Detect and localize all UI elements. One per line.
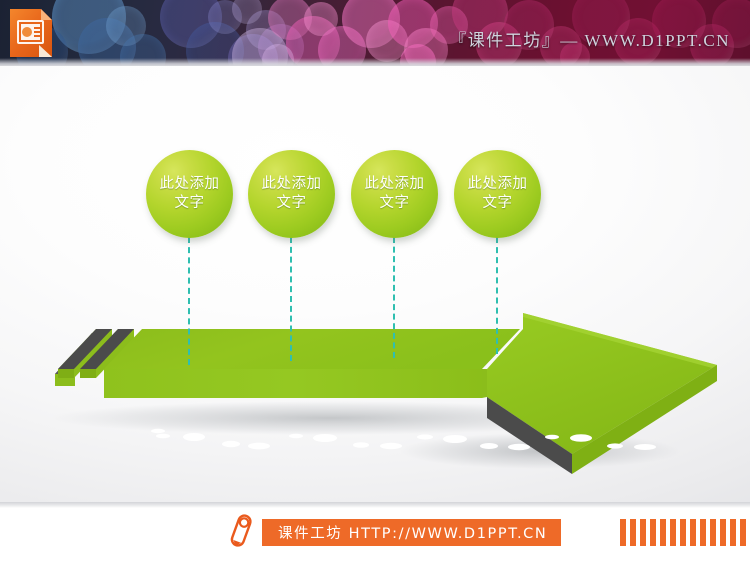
footer-bar-tick	[680, 519, 686, 546]
node-circle-4[interactable]: 此处添加 文字	[454, 150, 541, 238]
node-circle-1[interactable]: 此处添加 文字	[146, 150, 233, 238]
bokeh-circle	[366, 20, 408, 62]
footer-url-band[interactable]: 课件工坊 HTTP://WWW.D1PPT.CN	[262, 519, 561, 546]
footer-bar-tick	[700, 519, 706, 546]
banner-bottom-fade	[0, 58, 750, 66]
powerpoint-file-icon	[8, 7, 54, 59]
bokeh-circle	[208, 0, 242, 34]
footer-bar-tick	[740, 519, 746, 546]
footer-bar-tick	[690, 519, 696, 546]
footer-bar-tick	[660, 519, 666, 546]
top-banner: 『课件工坊』— WWW.D1PPT.CN	[0, 0, 750, 66]
arrow-shaft-top	[104, 329, 520, 369]
diagram-area: 此处添加 文字 此处添加 文字 此处添加 文字 此处添加 文字	[0, 66, 750, 502]
footer-bar-tick	[620, 519, 626, 546]
bokeh-circle	[160, 0, 222, 48]
arrow-shaft-front	[104, 369, 482, 398]
footer-url-text: 课件工坊 HTTP://WWW.D1PPT.CN	[278, 522, 547, 543]
bokeh-circle	[304, 2, 338, 36]
node-circle-3[interactable]: 此处添加 文字	[351, 150, 438, 238]
pen-icon	[228, 512, 254, 550]
connector-line-4	[496, 237, 498, 354]
footer-bar-tick	[640, 519, 646, 546]
arrow-shape[interactable]	[0, 66, 750, 502]
footer-bars-decoration	[620, 519, 746, 546]
bokeh-circle	[342, 0, 400, 48]
node-circle-2[interactable]: 此处添加 文字	[248, 150, 335, 238]
connector-line-3	[393, 237, 395, 358]
connector-line-2	[290, 237, 292, 361]
footer-bar-tick	[720, 519, 726, 546]
footer-bar-tick	[630, 519, 636, 546]
bokeh-circle	[268, 0, 312, 40]
footer-bar-tick	[670, 519, 676, 546]
footer-bar-tick	[710, 519, 716, 546]
bokeh-circle	[52, 0, 126, 54]
bokeh-circle	[388, 0, 438, 48]
connector-line-1	[188, 237, 190, 365]
slide-canvas: 『课件工坊』— WWW.D1PPT.CN	[0, 0, 750, 563]
arrow-lane-dashes	[151, 429, 165, 433]
bokeh-circle	[106, 6, 146, 46]
footer-bar-tick	[650, 519, 656, 546]
footer-bar-tick	[730, 519, 736, 546]
node-label-3: 此处添加 文字	[365, 175, 425, 213]
bokeh-circle	[246, 10, 286, 50]
banner-title: 『课件工坊』— WWW.D1PPT.CN	[449, 26, 730, 51]
bokeh-circle	[232, 0, 262, 24]
node-label-2: 此处添加 文字	[262, 175, 322, 213]
node-label-1: 此处添加 文字	[160, 175, 220, 213]
footer-divider	[0, 502, 750, 508]
node-label-4: 此处添加 文字	[468, 175, 528, 213]
